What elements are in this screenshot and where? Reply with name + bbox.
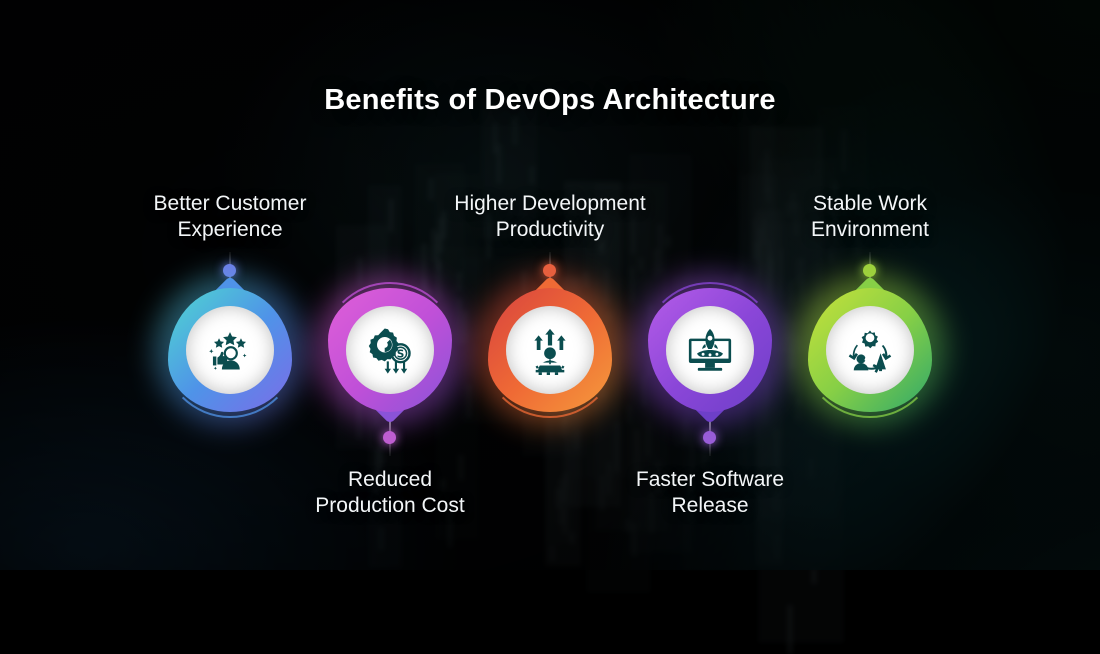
- benefit-badge-higher-development-productivity[interactable]: [488, 288, 612, 412]
- benefit-label-faster-software-release: Faster SoftwareRelease: [590, 467, 830, 519]
- badge-inner-circle-faster-software-release: [666, 306, 754, 394]
- benefit-badge-faster-software-release[interactable]: [648, 288, 772, 412]
- cost-reduction-icon: S: [364, 324, 416, 376]
- benefit-label-line2: Production Cost: [270, 493, 510, 519]
- benefit-label-line2: Release: [590, 493, 830, 519]
- benefit-label-line2: Environment: [750, 217, 990, 243]
- benefit-label-line2: Experience: [110, 217, 350, 243]
- badge-inner-circle-better-customer-experience: [186, 306, 274, 394]
- benefit-label-line1: Higher Development: [430, 191, 670, 217]
- badge-inner-circle-higher-development-productivity: [506, 306, 594, 394]
- benefit-label-reduced-production-cost: ReducedProduction Cost: [270, 467, 510, 519]
- customer-rating-icon: [204, 324, 256, 376]
- benefit-badge-reduced-production-cost[interactable]: S: [328, 288, 452, 412]
- benefit-badge-stable-work-environment[interactable]: [808, 288, 932, 412]
- benefit-label-higher-development-productivity: Higher DevelopmentProductivity: [430, 191, 670, 243]
- benefit-badge-better-customer-experience[interactable]: [168, 288, 292, 412]
- badge-inner-circle-reduced-production-cost: S: [346, 306, 434, 394]
- benefit-label-line1: Better Customer: [110, 191, 350, 217]
- benefit-label-line2: Productivity: [430, 217, 670, 243]
- rocket-monitor-icon: [684, 324, 736, 376]
- work-environment-cycle-icon: [844, 324, 896, 376]
- connector-dot-faster-software-release: [703, 431, 716, 444]
- svg-text:S: S: [397, 349, 405, 361]
- benefit-label-line1: Reduced: [270, 467, 510, 493]
- connector-dot-reduced-production-cost: [383, 431, 396, 444]
- page-title: Benefits of DevOps Architecture: [0, 84, 1100, 117]
- badge-inner-circle-stable-work-environment: [826, 306, 914, 394]
- benefit-label-stable-work-environment: Stable WorkEnvironment: [750, 191, 990, 243]
- benefit-label-line1: Faster Software: [590, 467, 830, 493]
- productivity-growth-icon: [524, 324, 576, 376]
- benefit-label-better-customer-experience: Better CustomerExperience: [110, 191, 350, 243]
- benefit-label-line1: Stable Work: [750, 191, 990, 217]
